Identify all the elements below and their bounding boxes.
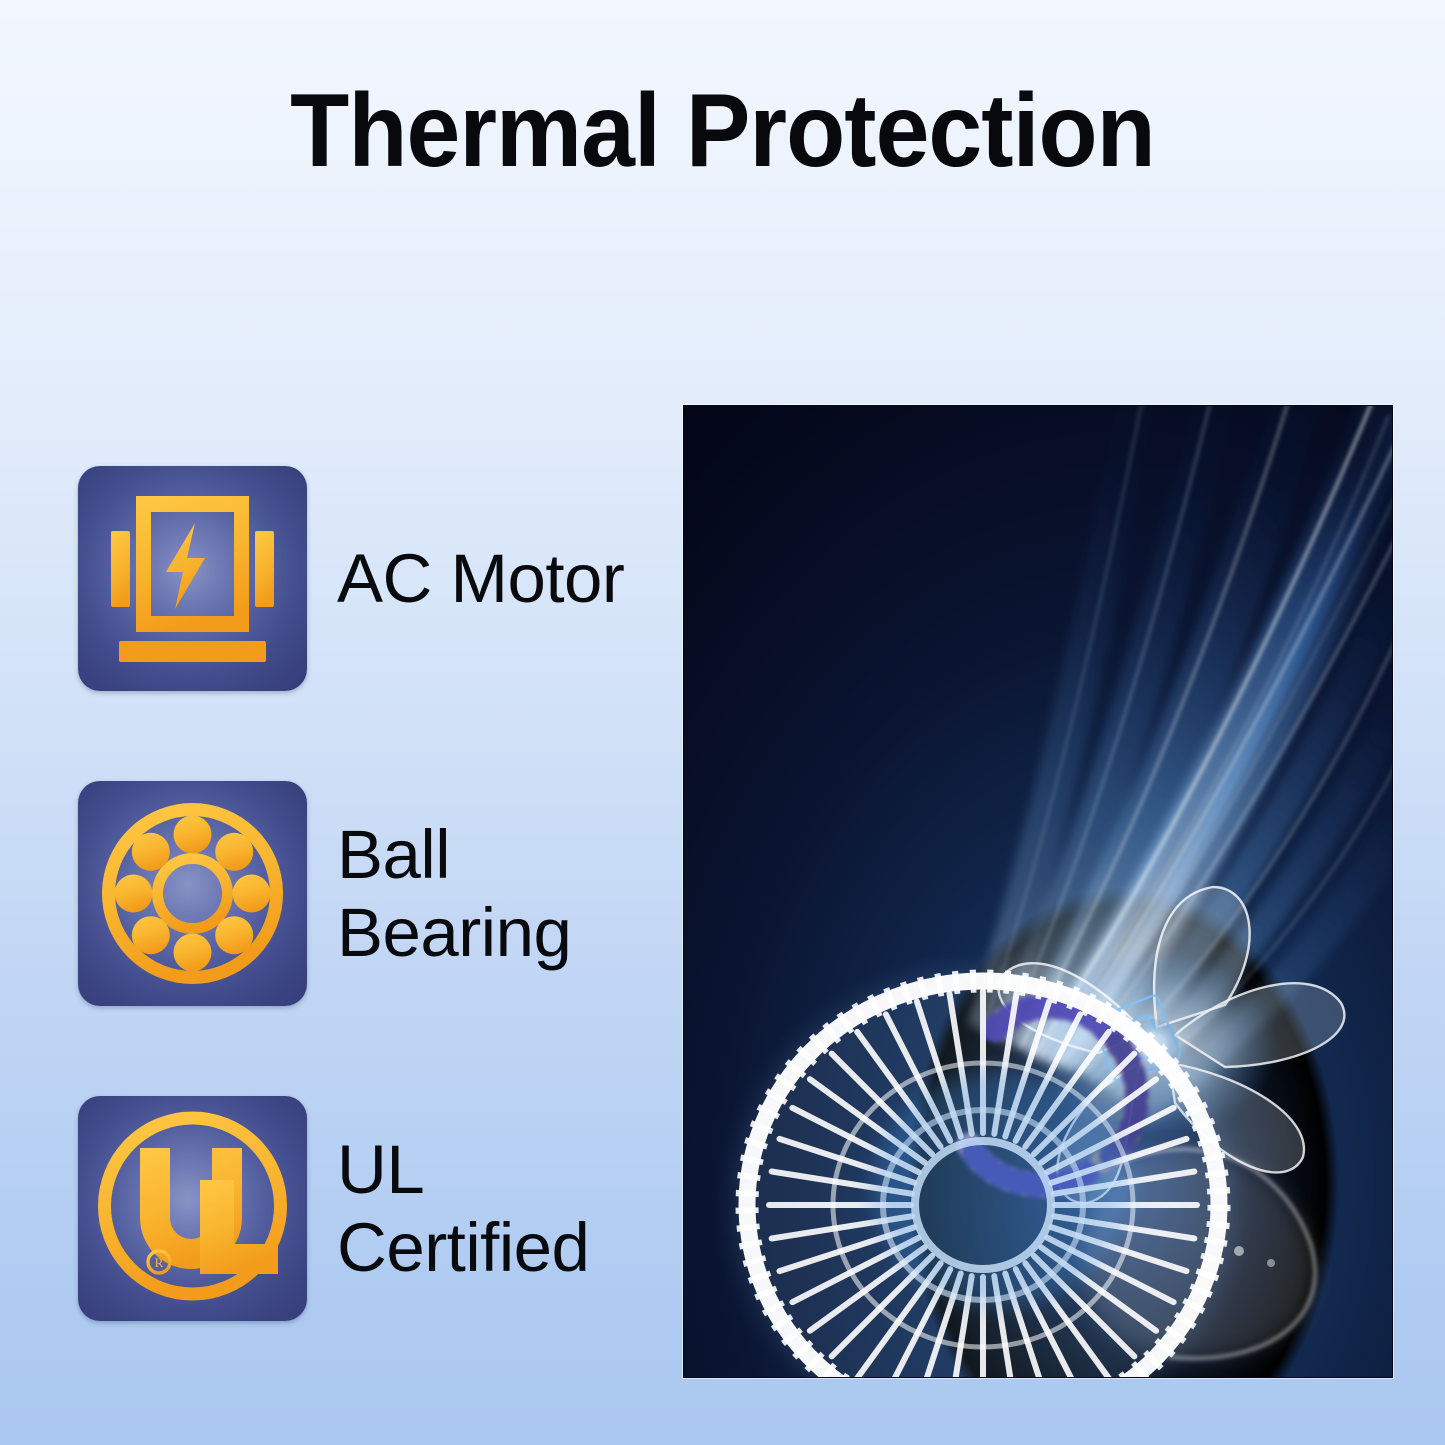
fan-motor-photo-graphic bbox=[683, 405, 1393, 1378]
infographic-page: Thermal Protection bbox=[0, 0, 1445, 1445]
page-title: Thermal Protection bbox=[51, 72, 1395, 191]
feature-label-ul-certified: UL Certified bbox=[337, 1131, 589, 1287]
feature-label-ac-motor: AC Motor bbox=[337, 540, 624, 618]
ul-certified-icon-tile[interactable]: R bbox=[78, 1096, 307, 1321]
fan-motor-airflow-photo bbox=[683, 405, 1393, 1378]
feature-item-ac-motor[interactable]: AC Motor bbox=[78, 466, 678, 691]
feature-label-ball-bearing: Ball Bearing bbox=[337, 816, 571, 972]
ul-certified-icon: R bbox=[78, 1096, 307, 1321]
feature-item-ul-certified[interactable]: R UL Certified bbox=[78, 1096, 678, 1321]
ball-bearing-icon-tile[interactable] bbox=[78, 781, 307, 1006]
ac-motor-icon-tile[interactable] bbox=[78, 466, 307, 691]
ac-motor-icon bbox=[78, 466, 307, 691]
ball-bearing-icon bbox=[78, 781, 307, 1006]
svg-text:R: R bbox=[155, 1255, 164, 1270]
feature-item-ball-bearing[interactable]: Ball Bearing bbox=[78, 781, 678, 1006]
